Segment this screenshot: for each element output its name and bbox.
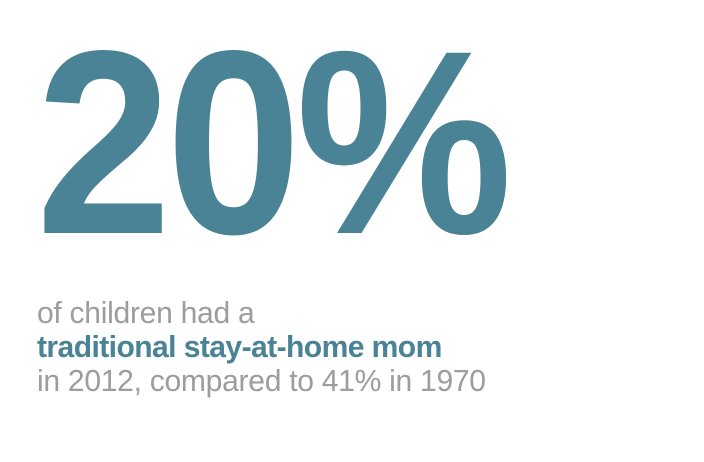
caption-line-3: in 2012, compared to 41% in 1970 [37, 364, 668, 398]
caption-line-2-emphasis: traditional stay-at-home mom [37, 330, 668, 364]
statistic-infographic: 20% of children had a traditional stay-a… [0, 0, 704, 462]
headline-percentage: 20% [36, 18, 631, 268]
caption-block: of children had a traditional stay-at-ho… [37, 296, 687, 398]
caption-line-1: of children had a [37, 296, 668, 330]
headline-statistic-block: 20% [36, 18, 676, 268]
